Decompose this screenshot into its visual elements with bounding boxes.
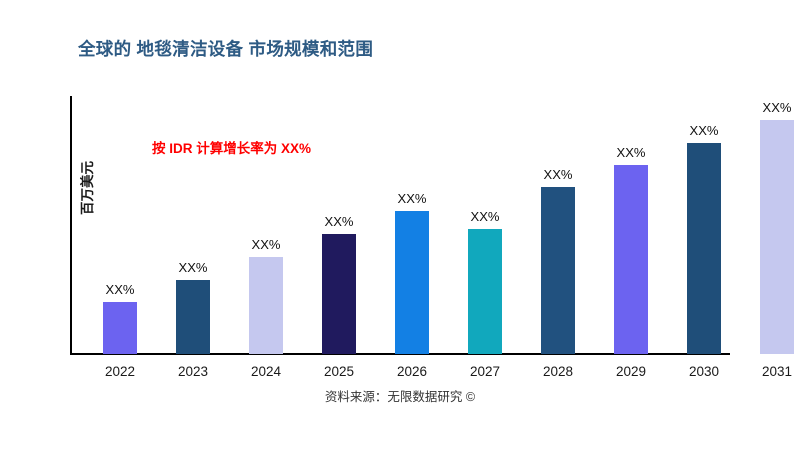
bar-value-label: XX% (179, 260, 208, 275)
bar-value-label: XX% (544, 167, 573, 182)
growth-rate-annotation: 按 IDR 计算增长率为 XX% (152, 137, 311, 157)
bar-value-label: XX% (325, 214, 354, 229)
bar-group[interactable]: XX%2026 (395, 211, 429, 354)
bar-group[interactable]: XX%2024 (249, 257, 283, 354)
x-axis-tick-label: 2025 (324, 364, 354, 379)
bar-rect[interactable] (760, 120, 794, 354)
bar-rect[interactable] (468, 229, 502, 354)
x-axis-tick-label: 2022 (105, 364, 135, 379)
bar-value-label: XX% (617, 145, 646, 160)
x-axis-tick-label: 2029 (616, 364, 646, 379)
bar-rect[interactable] (103, 302, 137, 354)
x-axis-tick-label: 2028 (543, 364, 573, 379)
x-axis-tick-label: 2024 (251, 364, 281, 379)
bar-chart-figure: 全球的 地毯清洁设备 市场规模和范围 百万美元 按 IDR 计算增长率为 XX%… (0, 0, 800, 450)
y-axis-line (70, 96, 72, 355)
bar-rect[interactable] (395, 211, 429, 354)
y-axis-title: 百万美元 (76, 128, 96, 248)
bar-value-label: XX% (763, 100, 792, 115)
bar-group[interactable]: XX%2022 (103, 302, 137, 354)
x-axis-tick-label: 2026 (397, 364, 427, 379)
x-axis-tick-label: 2030 (689, 364, 719, 379)
page-title: 全球的 地毯清洁设备 市场规模和范围 (78, 36, 373, 61)
plot-area: 百万美元 按 IDR 计算增长率为 XX% XX%2022XX%2023XX%2… (70, 96, 782, 356)
bar-rect[interactable] (541, 187, 575, 354)
bar-group[interactable]: XX%2023 (176, 280, 210, 354)
x-axis-tick-label: 2023 (178, 364, 208, 379)
bar-group[interactable]: XX%2029 (614, 165, 648, 354)
bar-value-label: XX% (690, 123, 719, 138)
bar-value-label: XX% (252, 237, 281, 252)
source-note: 资料来源：无限数据研究 © (0, 386, 800, 405)
x-axis-tick-label: 2031 (762, 364, 792, 379)
bar-rect[interactable] (687, 143, 721, 354)
bar-value-label: XX% (106, 282, 135, 297)
bar-rect[interactable] (322, 234, 356, 354)
bar-rect[interactable] (249, 257, 283, 354)
bar-group[interactable]: XX%2030 (687, 143, 721, 354)
bar-group[interactable]: XX%2031 (760, 120, 794, 354)
bar-group[interactable]: XX%2028 (541, 187, 575, 354)
bar-group[interactable]: XX%2025 (322, 234, 356, 354)
bar-value-label: XX% (398, 191, 427, 206)
bar-group[interactable]: XX%2027 (468, 229, 502, 354)
bar-value-label: XX% (471, 209, 500, 224)
bar-rect[interactable] (176, 280, 210, 354)
x-axis-tick-label: 2027 (470, 364, 500, 379)
bar-rect[interactable] (614, 165, 648, 354)
